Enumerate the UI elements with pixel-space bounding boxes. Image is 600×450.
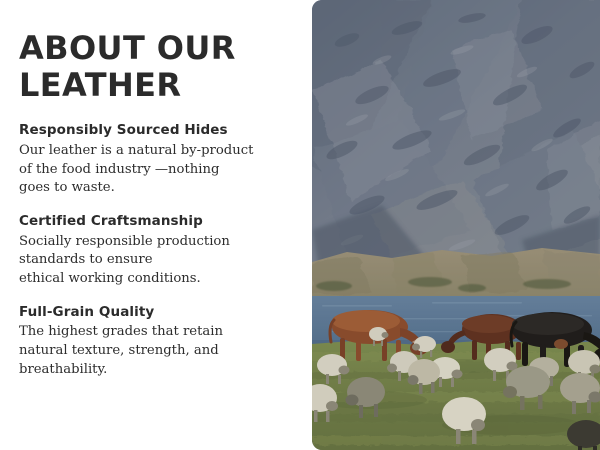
section-title: Responsibly Sourced Hides xyxy=(19,122,298,140)
pasture-livestock-photo xyxy=(312,0,600,450)
page-title: ABOUT OUR LEATHER xyxy=(19,30,298,104)
section-title: Certified Craftsmanship xyxy=(19,213,298,231)
text-panel: ABOUT OUR LEATHER Responsibly Sourced Hi… xyxy=(0,0,312,450)
section-body: Our leather is a natural by-product of t… xyxy=(19,142,298,198)
about-our-leather-panel: ABOUT OUR LEATHER Responsibly Sourced Hi… xyxy=(0,0,600,450)
section-responsibly-sourced-hides: Responsibly Sourced Hides Our leather is… xyxy=(19,122,298,198)
section-body: Socially responsible production standard… xyxy=(19,233,298,289)
section-full-grain-quality: Full-Grain Quality The highest grades th… xyxy=(19,304,298,380)
section-title: Full-Grain Quality xyxy=(19,304,298,322)
section-certified-craftsmanship: Certified Craftsmanship Socially respons… xyxy=(19,213,298,289)
section-body: The highest grades that retain natural t… xyxy=(19,323,298,379)
pasture-livestock-illustration xyxy=(312,0,600,450)
